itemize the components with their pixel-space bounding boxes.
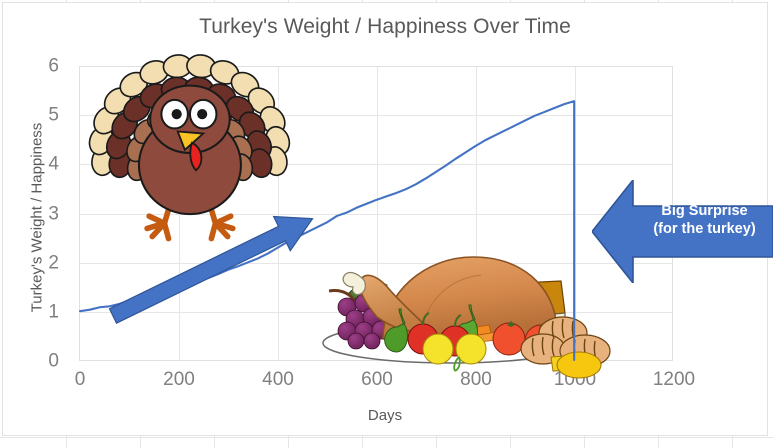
x-tick-label: 400 xyxy=(233,369,323,391)
callout-text-block: Big Surprise (for the turkey) xyxy=(636,203,773,238)
horizontal-gridline xyxy=(80,164,672,165)
y-tick-label: 5 xyxy=(19,106,59,125)
x-tick-label: 600 xyxy=(332,369,422,391)
y-tick-label: 1 xyxy=(19,303,59,322)
x-tick-label: 200 xyxy=(134,369,224,391)
callout-line-2: (for the turkey) xyxy=(636,221,773,239)
big-surprise-callout[interactable]: Big Surprise (for the turkey) xyxy=(592,180,773,283)
y-tick-label: 6 xyxy=(19,57,59,76)
horizontal-gridline xyxy=(80,312,672,313)
y-tick-label: 4 xyxy=(19,155,59,174)
chart-title: Turkey's Weight / Happiness Over Time xyxy=(3,15,767,39)
vertical-gridline xyxy=(278,67,279,360)
x-tick-label: 800 xyxy=(431,369,521,391)
y-tick-label: 3 xyxy=(19,205,59,224)
sheet-row-gridline xyxy=(0,437,773,438)
x-tick-label: 0 xyxy=(35,369,125,391)
horizontal-gridline xyxy=(80,263,672,264)
vertical-gridline xyxy=(575,67,576,360)
x-axis-title: Days xyxy=(3,407,767,424)
y-tick-label: 2 xyxy=(19,254,59,273)
vertical-gridline xyxy=(476,67,477,360)
x-tick-label: 1000 xyxy=(530,369,620,391)
vertical-gridline xyxy=(179,67,180,360)
horizontal-gridline xyxy=(80,214,672,215)
vertical-gridline xyxy=(377,67,378,360)
callout-line-1: Big Surprise xyxy=(636,203,773,221)
plot-area[interactable] xyxy=(79,66,673,361)
x-tick-label: 1200 xyxy=(629,369,719,391)
y-tick-label: 0 xyxy=(19,352,59,371)
horizontal-gridline xyxy=(80,115,672,116)
